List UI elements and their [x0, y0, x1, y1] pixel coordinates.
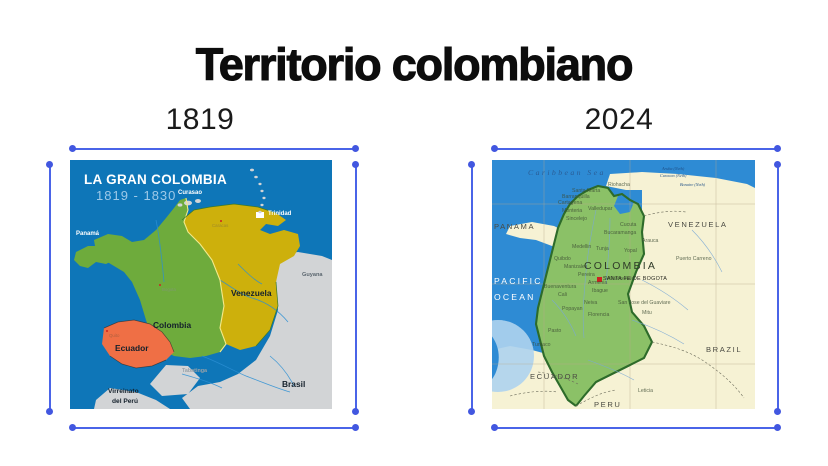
map-label-ecuador: ECUADOR — [530, 372, 579, 381]
map-label-colombia: Colombia — [153, 320, 191, 330]
map-city-label: Monteria — [562, 208, 582, 214]
map-label-brazil: BRAZIL — [706, 345, 742, 354]
map-subtitle-years: 1819 - 1830 — [96, 188, 176, 203]
map-label-bogota: Bogota — [162, 287, 176, 292]
map-city-label: Tunja — [596, 246, 609, 252]
map-title-gran-colombia: LA GRAN COLOMBIA — [84, 172, 227, 187]
map-city-label: Valledupar — [588, 206, 612, 212]
selection-handle-bottom-right[interactable] — [352, 424, 359, 431]
selection-handle-left-bottom[interactable] — [46, 408, 53, 415]
selection-handle-left-top[interactable] — [46, 161, 53, 168]
map-label-brasil: Brasil — [282, 379, 305, 389]
map-label-ecuador: Ecuador — [115, 343, 149, 353]
map-city-label: Cartagena — [558, 200, 582, 206]
map-city-label: Bucaramanga — [604, 230, 636, 236]
year-label-2024: 2024 — [482, 105, 756, 135]
map-label-virreinato-line2: del Perú — [112, 398, 138, 405]
map-label-venezuela: Venezuela — [231, 288, 272, 298]
map-graphic-1819: LA GRAN COLOMBIA 1819 - 1830 Colombia Ve… — [70, 160, 332, 409]
map-city-label: Pereira — [578, 272, 595, 278]
map-city-label: Arauca — [642, 238, 658, 244]
selection-handle-top-right[interactable] — [774, 145, 781, 152]
map-city-label: Leticia — [638, 388, 653, 394]
map-city-label: Ibague — [592, 288, 608, 294]
selection-line-bottom[interactable] — [72, 427, 355, 429]
selection-handle-right-bottom[interactable] — [352, 408, 359, 415]
selection-line-top[interactable] — [72, 148, 355, 150]
map-city-label: Cali — [558, 292, 567, 298]
selection-line-left[interactable] — [49, 164, 51, 411]
selection-handle-right-bottom[interactable] — [774, 408, 781, 415]
selection-handle-left-top[interactable] — [468, 161, 475, 168]
map-city-label: San Jose del Guaviare — [618, 300, 670, 306]
selection-handle-left-bottom[interactable] — [468, 408, 475, 415]
map-label-virreinato-line1: Virreinato — [108, 388, 139, 395]
page-title: Territorio colombiano — [0, 42, 828, 87]
selection-line-bottom[interactable] — [494, 427, 777, 429]
map-label-tabatinga: Tabatinga — [182, 368, 207, 374]
map-label-caribbean-sea: Caribbean Sea — [528, 168, 606, 177]
map-label-colombia: COLOMBIA — [584, 260, 657, 272]
map-city-label: Cucuta — [620, 222, 636, 228]
year-label-1819: 1819 — [70, 105, 330, 135]
map-city-label: Riohacha — [608, 182, 630, 188]
map-label-curacao: Curacao (Neth) — [660, 173, 686, 178]
map-label-pacific-line2: OCEAN — [494, 292, 536, 302]
selection-handle-top[interactable] — [69, 145, 76, 152]
map-label-caracas: Caracas — [212, 223, 228, 228]
map-city-label: Buenaventura — [544, 284, 576, 290]
map-label-panama: Panamá — [76, 231, 99, 237]
map-city-label: Puerto Carreno — [676, 256, 711, 262]
selection-handle-bottom[interactable] — [491, 424, 498, 431]
map-city-label: Yopal — [624, 248, 637, 254]
map-city-label: Sincelejo — [566, 216, 587, 222]
image-la-gran-colombia[interactable]: LA GRAN COLOMBIA 1819 - 1830 Colombia Ve… — [70, 160, 332, 409]
map-label-quito: Quito — [109, 333, 120, 338]
selection-handle-top-right[interactable] — [352, 145, 359, 152]
map-city-label: Armenia — [588, 280, 607, 286]
selection-line-left[interactable] — [471, 164, 473, 411]
map-city-label: Neiva — [584, 300, 597, 306]
image-colombia-modern[interactable]: Caribbean Sea PACIFIC OCEAN COLOMBIA VEN… — [492, 160, 755, 409]
map-city-label: Tumaco — [532, 342, 551, 348]
selection-handle-bottom[interactable] — [69, 424, 76, 431]
map-label-curasao: Curasao — [178, 190, 202, 196]
map-city-label: Manizales — [564, 264, 587, 270]
map-city-label: Medellin — [572, 244, 591, 250]
map-city-label: Pasto — [548, 328, 561, 334]
map-city-label: Mitu — [642, 310, 652, 316]
map-city-label: Villavicencio — [606, 276, 634, 282]
selection-handle-top[interactable] — [491, 145, 498, 152]
selection-handle-right-top[interactable] — [774, 161, 781, 168]
map-label-guyana: Guyana — [302, 272, 323, 278]
map-label-panama: PANAMA — [494, 222, 535, 231]
map-city-label: Popayan — [562, 306, 582, 312]
map-label-peru: PERU — [594, 400, 622, 409]
map-city-label: Florencia — [588, 312, 609, 318]
map-label-venezuela: VENEZUELA — [668, 220, 728, 229]
selection-line-top[interactable] — [494, 148, 777, 150]
map-city-label: Quibdo — [554, 256, 571, 262]
slide-canvas: Territorio colombiano 1819 2024 — [0, 0, 828, 466]
selection-line-right[interactable] — [355, 164, 357, 411]
map-label-pacific-line1: PACIFIC — [494, 276, 543, 286]
selection-line-right[interactable] — [777, 164, 779, 411]
selection-handle-bottom-right[interactable] — [774, 424, 781, 431]
map-label-trinidad: Trinidad — [268, 211, 291, 217]
map-label-aruba: Aruba (Neth) — [662, 166, 684, 171]
map-graphic-2024: Caribbean Sea PACIFIC OCEAN COLOMBIA VEN… — [492, 160, 755, 409]
selection-handle-right-top[interactable] — [352, 161, 359, 168]
map-label-bonaire: Bonaire (Neth) — [680, 182, 705, 187]
